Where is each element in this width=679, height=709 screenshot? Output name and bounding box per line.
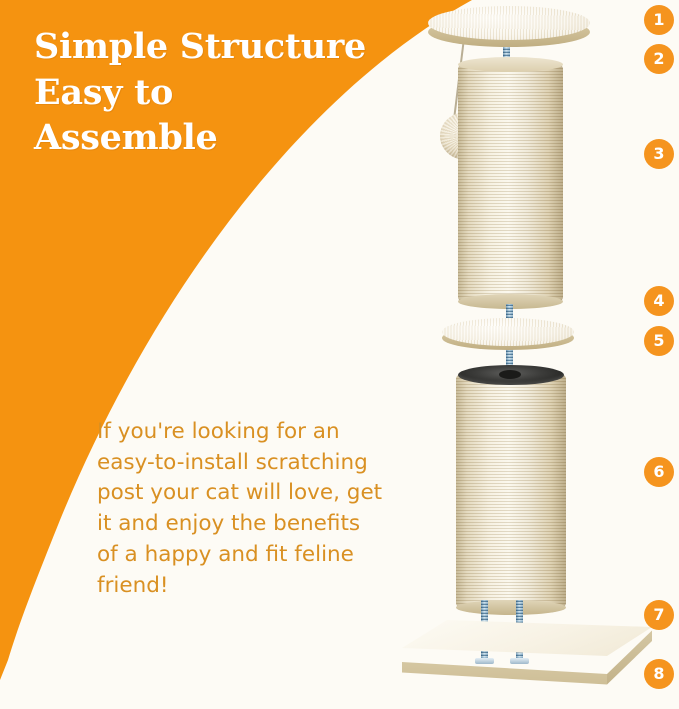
step-badge-8: 8 bbox=[644, 659, 674, 689]
description-paragraph: If you're looking for an easy-to-install… bbox=[97, 417, 427, 601]
upper-post-top-cap bbox=[458, 57, 563, 72]
upper-sisal-post bbox=[458, 64, 563, 302]
base-board-surface bbox=[402, 620, 652, 670]
step-badge-4: 4 bbox=[644, 286, 674, 316]
page-title-line-3: Assemble bbox=[34, 115, 414, 161]
step-badge-6: 6 bbox=[644, 457, 674, 487]
lower-post-bottom-cap bbox=[456, 600, 566, 615]
plush-base-board bbox=[402, 620, 652, 695]
infographic-canvas: Simple Structure Easy to Assemble If you… bbox=[0, 0, 679, 709]
page-title-line-1: Simple Structure bbox=[34, 24, 414, 70]
lower-post-dark-rim bbox=[458, 365, 564, 385]
page-title: Simple Structure Easy to Assemble bbox=[34, 24, 414, 161]
step-badge-5: 5 bbox=[644, 326, 674, 356]
description-line-4: it and enjoy the benefits bbox=[97, 509, 427, 540]
lower-sisal-post bbox=[456, 374, 566, 608]
middle-disc-surface bbox=[442, 318, 574, 346]
step-badge-2: 2 bbox=[644, 44, 674, 74]
top-plush-disc bbox=[428, 6, 590, 40]
step-badge-3: 3 bbox=[644, 139, 674, 169]
step-badge-1: 1 bbox=[644, 5, 674, 35]
top-disc-surface bbox=[428, 6, 590, 40]
middle-plush-disc bbox=[442, 318, 574, 346]
description-line-5: of a happy and fit feline bbox=[97, 540, 427, 571]
description-line-2: easy-to-install scratching bbox=[97, 448, 427, 479]
page-title-line-2: Easy to bbox=[34, 70, 414, 116]
step-badge-7: 7 bbox=[644, 600, 674, 630]
description-line-3: post your cat will love, get bbox=[97, 478, 427, 509]
product-illustration bbox=[380, 0, 679, 709]
description-line-6: friend! bbox=[97, 571, 427, 602]
description-line-1: If you're looking for an bbox=[97, 417, 427, 448]
